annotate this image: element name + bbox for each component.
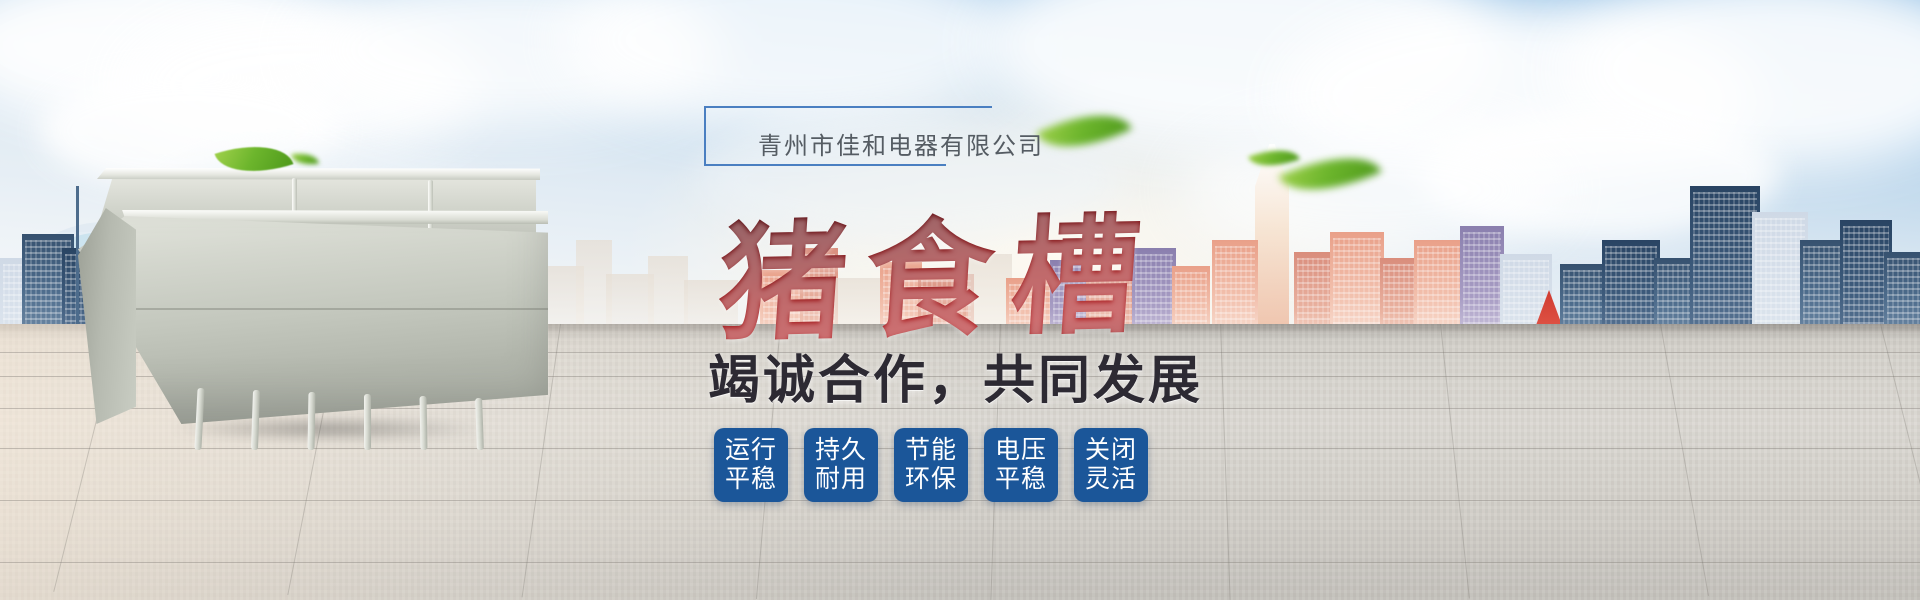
building (1602, 240, 1660, 336)
page-title: 猪食槽 (713, 171, 1164, 365)
badge-line-1: 关闭 (1085, 436, 1137, 466)
subheadline: 竭诚合作，共同发展 (708, 338, 1203, 413)
building (1414, 240, 1464, 336)
trough-bar (364, 394, 371, 450)
badge-line-1: 运行 (725, 436, 777, 466)
product-image-pig-feeding-trough (78, 160, 548, 460)
feature-badge-list: 运行 平稳 持久 耐用 节能 环保 电压 平稳 关闭 灵活 (714, 428, 1148, 502)
badge-line-2: 平稳 (725, 465, 777, 495)
badge-line-1: 电压 (995, 436, 1047, 466)
building (1690, 186, 1760, 336)
building (1460, 226, 1504, 336)
feature-badge-guanbi-linghuo[interactable]: 关闭 灵活 (1074, 428, 1148, 502)
badge-line-2: 耐用 (815, 465, 867, 495)
trough-top-rim (88, 168, 540, 180)
promotional-banner: 青州市佳和电器有限公司 猪食槽 竭诚合作，共同发展 运行 平稳 持久 耐用 节能… (0, 0, 1920, 600)
feature-badge-jieneng-huanbao[interactable]: 节能 环保 (894, 428, 968, 502)
badge-line-2: 平稳 (995, 465, 1047, 495)
decorative-frame-tail (946, 106, 992, 108)
building (1330, 232, 1384, 336)
trough-bar (307, 392, 315, 450)
plaza-tile-line (0, 562, 1920, 563)
trough-left-side-panel (78, 208, 136, 424)
badge-line-1: 持久 (815, 436, 867, 466)
trough-bar (475, 398, 484, 450)
company-name: 青州市佳和电器有限公司 (758, 126, 1044, 161)
feature-badge-yunxing-pingwen[interactable]: 运行 平稳 (714, 428, 788, 502)
feature-badge-dianya-pingwen[interactable]: 电压 平稳 (984, 428, 1058, 502)
badge-line-1: 节能 (905, 436, 957, 466)
feature-badge-chijiu-naiyong[interactable]: 持久 耐用 (804, 428, 878, 502)
badge-line-2: 灵活 (1085, 465, 1137, 495)
trough-bar (420, 396, 428, 450)
headline-copy-block: 青州市佳和电器有限公司 猪食槽 竭诚合作，共同发展 运行 平稳 持久 耐用 节能… (700, 98, 1320, 538)
badge-line-2: 环保 (905, 465, 957, 495)
